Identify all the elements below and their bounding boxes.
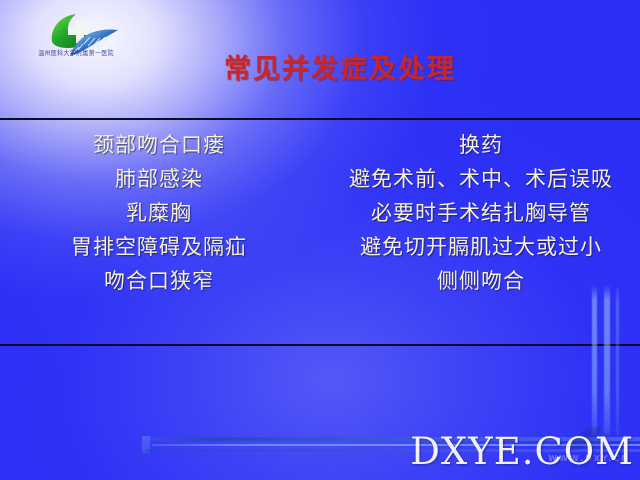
list-item: 避免术前、术中、术后误吸 <box>349 162 613 196</box>
slide-title: 常见并发症及处理 <box>150 53 530 87</box>
decorative-streak <box>616 285 619 435</box>
divider-top <box>0 118 640 120</box>
list-item: 肺部感染 <box>115 162 203 196</box>
list-item: 换药 <box>459 128 503 162</box>
divider-bottom <box>0 344 640 346</box>
list-item: 侧侧吻合 <box>437 264 525 298</box>
hospital-name-caption: 温州医科大学附属第一医院 <box>16 50 136 58</box>
presentation-slide: 温州医科大学附属第一医院 常见并发症及处理 颈部吻合口瘘 肺部感染 乳糜胸 胃排… <box>0 0 640 480</box>
list-item: 乳糜胸 <box>126 196 192 230</box>
list-item: 胃排空障碍及隔疝 <box>71 230 247 264</box>
watermark-primary: DXYE.COM <box>410 432 634 472</box>
decorative-streak <box>604 285 610 435</box>
list-item: 颈部吻合口瘘 <box>93 128 225 162</box>
slide-body: 颈部吻合口瘘 肺部感染 乳糜胸 胃排空障碍及隔疝 吻合口狭窄 换药 避免术前、术… <box>0 124 640 340</box>
complications-column: 颈部吻合口瘘 肺部感染 乳糜胸 胃排空障碍及隔疝 吻合口狭窄 <box>0 124 320 340</box>
list-item: 必要时手术结扎胸导管 <box>371 196 591 230</box>
list-item: 避免切开膈肌过大或过小 <box>360 230 602 264</box>
decorative-streak <box>592 285 597 435</box>
list-item: 吻合口狭窄 <box>104 264 214 298</box>
